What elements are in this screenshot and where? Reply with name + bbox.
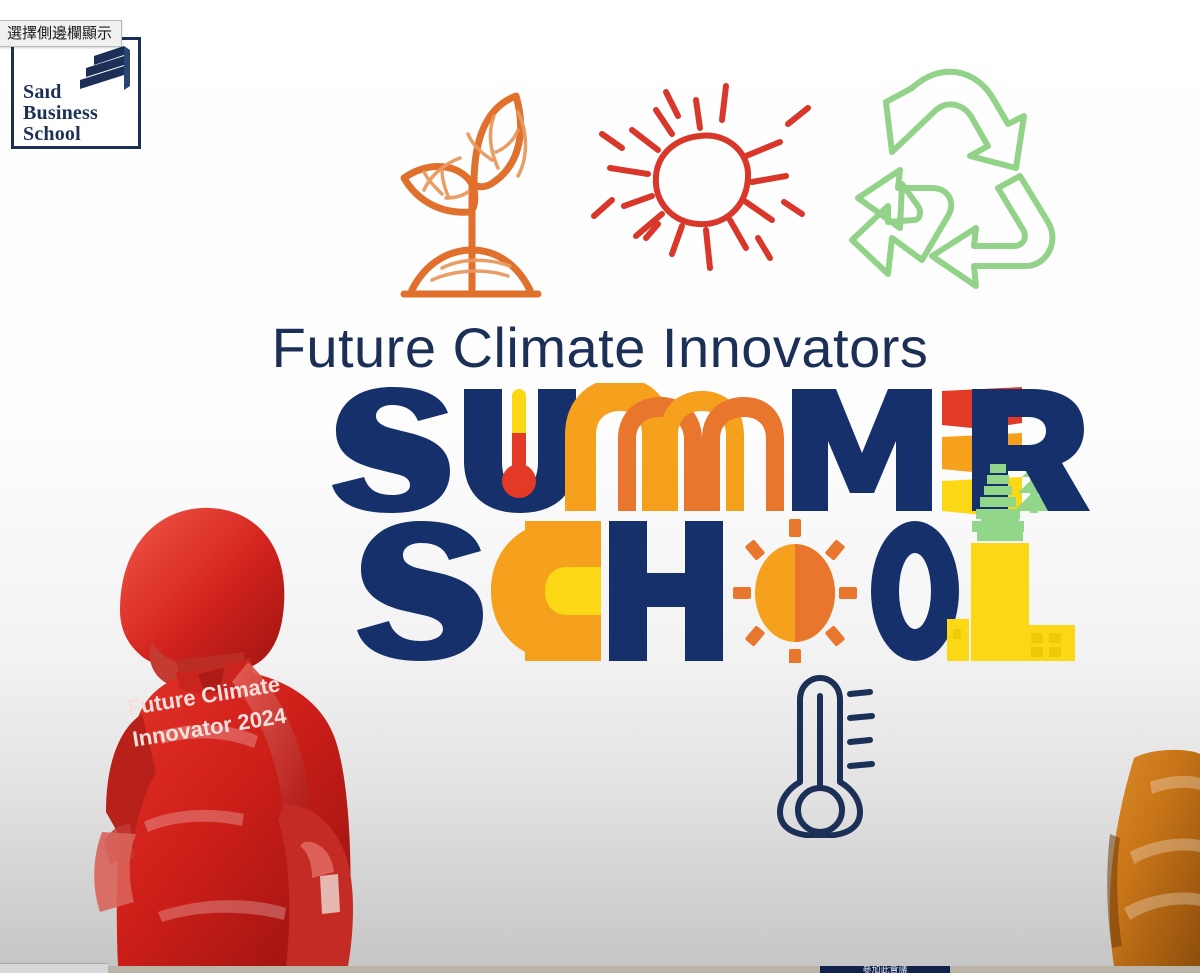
seedling-icon	[382, 72, 558, 313]
logo-line-1: Saıd	[23, 82, 98, 103]
thermometer-icon	[772, 672, 878, 843]
window-bottom-left-control[interactable]	[0, 963, 108, 973]
presentation-slide-stage: Future Climate Innovators	[0, 0, 1200, 966]
logo-line-2: Business	[23, 103, 98, 124]
join-meeting-button[interactable]: 參加此會議	[820, 966, 950, 973]
tree-icon	[963, 462, 1033, 542]
person-photo-right	[1096, 748, 1200, 966]
sun-icon	[586, 68, 814, 301]
logo-line-3: School	[23, 124, 98, 145]
window-bottom-bar	[0, 966, 1200, 973]
eco-icon-row	[0, 60, 1200, 310]
sidebar-display-tooltip: 選擇側邊欄顯示	[0, 20, 122, 47]
said-business-school-logo: Saıd Business School	[11, 37, 141, 149]
logo-wordmark: Saıd Business School	[23, 82, 98, 145]
recycle-icon	[848, 60, 1068, 297]
student-photo-left: Future Climate Innovator 2024	[48, 492, 393, 966]
page-title: Future Climate Innovators	[0, 315, 1200, 380]
